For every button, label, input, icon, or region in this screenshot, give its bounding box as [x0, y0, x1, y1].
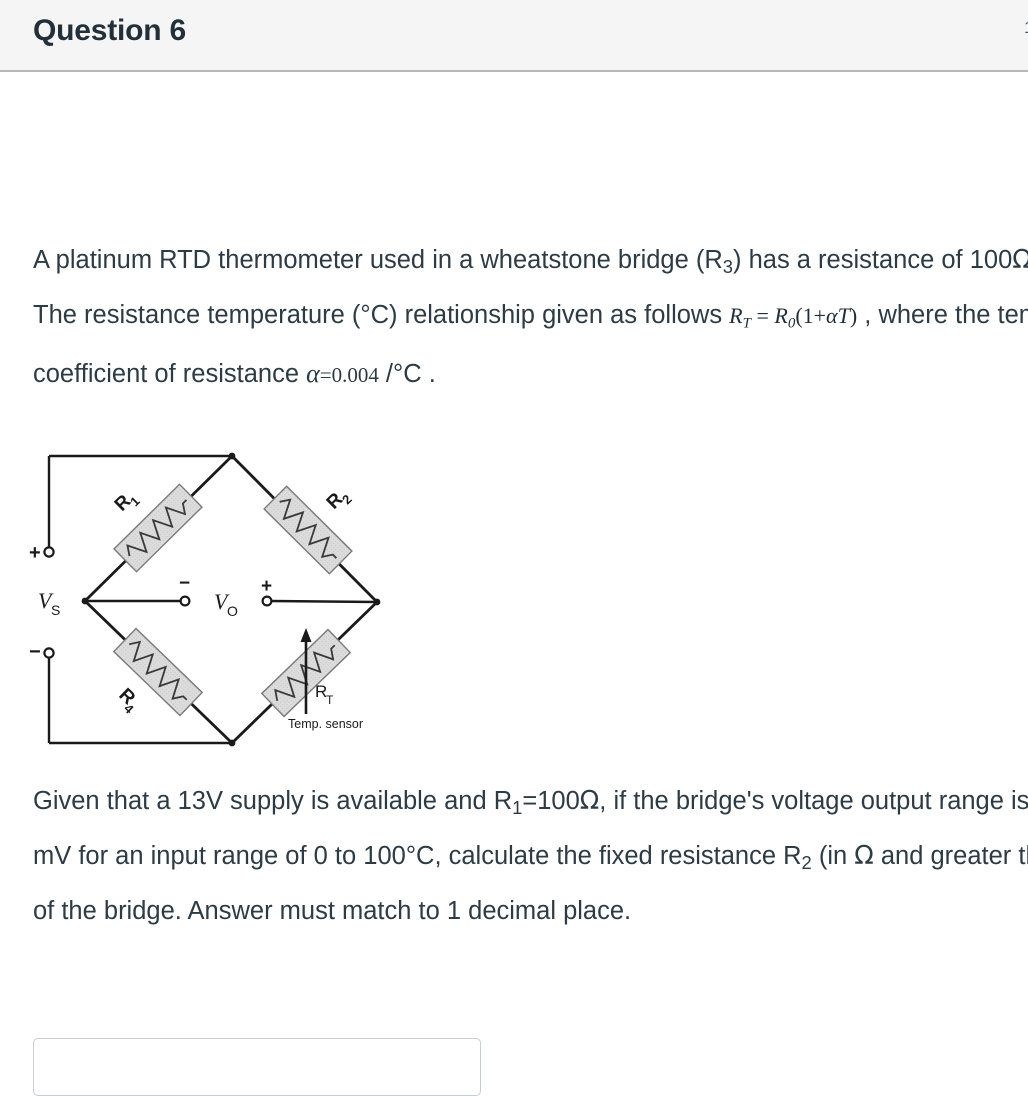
svg-text:S: S [51, 602, 60, 618]
ohm-symbol: Ω [1012, 245, 1028, 275]
svg-text:T: T [326, 693, 334, 707]
paragraph2-text-part1: Given that a 13V supply is available and… [33, 787, 512, 815]
supply-wiring [49, 456, 232, 743]
output-plus-sign: + [261, 576, 272, 597]
alpha-value: =0.004 [320, 363, 379, 387]
eq-alpha: α [826, 303, 838, 328]
output-minus-sign: − [179, 573, 190, 594]
paragraph1-text-part1: A platinum RTD thermometer used in a whe… [33, 246, 723, 274]
eq-r0: R [774, 303, 787, 328]
output-positive-terminal [263, 597, 272, 606]
paragraph2-text-part5: and greater than 50 [874, 842, 1028, 870]
paragraph2-text-part2: =100 [522, 787, 579, 815]
paragraph2-subscript-1: 1 [512, 797, 522, 818]
wheatstone-bridge-svg: R 1 R 2 R 4 R T Temp. sensor V [18, 440, 418, 760]
paragraph2-subscript-2: 2 [802, 852, 812, 873]
page-title: Question 6 [33, 14, 186, 48]
eq-t: T [838, 303, 850, 328]
eq-r-subscript: T [743, 316, 751, 332]
resistor-r1-label: R 1 [111, 486, 143, 518]
resistor-rt-label: R T [315, 682, 334, 707]
question-paragraph-1: A platinum RTD thermometer used in a whe… [33, 236, 1028, 400]
answer-input[interactable] [33, 1038, 481, 1096]
equation-rtd: RT = R0(1+αT) [729, 303, 857, 328]
resistor-r2-label: R 2 [323, 484, 355, 516]
alpha-symbol: α [306, 359, 320, 388]
source-positive-terminal [44, 547, 53, 556]
question-paragraph-2: Given that a 13V supply is available and… [33, 777, 1028, 936]
svg-text:O: O [227, 603, 238, 619]
eq-equals: = [751, 303, 774, 328]
output-leads [85, 601, 377, 602]
bridge-node-bottom [229, 740, 236, 747]
source-voltage-label: V S [38, 588, 60, 618]
question-header: Question 6 1 pts [0, 0, 1028, 72]
temp-sensor-caption: Temp. sensor [288, 717, 363, 731]
ohm-symbol-3: Ω [854, 841, 874, 871]
paragraph1-subscript-3: 3 [723, 256, 733, 277]
source-negative-terminal [44, 648, 53, 657]
ohm-symbol-2: Ω [580, 786, 600, 816]
eq-open-paren: (1+ [795, 303, 826, 328]
eq-r: R [729, 303, 742, 328]
paragraph1-text-part5: /°C . [379, 360, 436, 388]
output-voltage-label: V O [214, 589, 238, 619]
paragraph2-text-part4: (in [812, 842, 855, 870]
output-negative-terminal [181, 597, 190, 606]
source-minus-sign: − [29, 641, 41, 663]
source-plus-sign: + [29, 542, 41, 564]
bridge-node-top [229, 453, 236, 460]
paragraph1-text-part2: ) has a resistance of 100 [733, 246, 1012, 274]
resistor-r4-label: R 4 [112, 684, 144, 717]
wheatstone-bridge-figure: R 1 R 2 R 4 R T Temp. sensor V [18, 440, 418, 760]
question-points-label: 1 pts [1024, 18, 1028, 38]
